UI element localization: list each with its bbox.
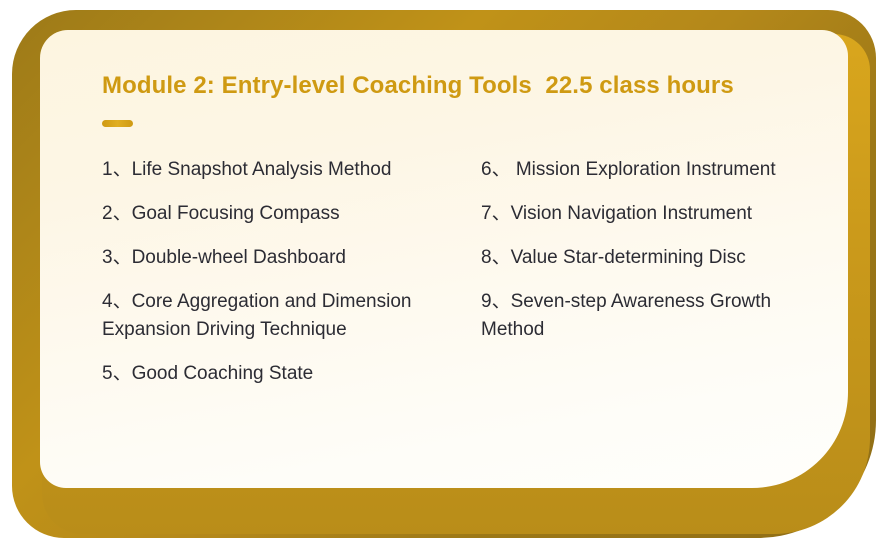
list-item: 9、Seven-step Awareness Growth Method bbox=[481, 288, 831, 344]
list-item: 6、 Mission Exploration Instrument bbox=[481, 156, 831, 184]
list-item: 8、Value Star-determining Disc bbox=[481, 244, 831, 272]
title-accent-dash-icon bbox=[102, 120, 133, 127]
content-card: Module 2: Entry-level Coaching Tools 22.… bbox=[40, 30, 848, 488]
page-stage: Module 2: Entry-level Coaching Tools 22.… bbox=[0, 0, 888, 548]
page-title: Module 2: Entry-level Coaching Tools 22.… bbox=[102, 72, 734, 100]
list-item: 2、Goal Focusing Compass bbox=[102, 200, 472, 228]
tools-column-left: 1、Life Snapshot Analysis Method 2、Goal F… bbox=[102, 156, 472, 404]
list-item: 7、Vision Navigation Instrument bbox=[481, 200, 831, 228]
tools-column-right: 6、 Mission Exploration Instrument 7、Visi… bbox=[481, 156, 831, 360]
list-item: 5、Good Coaching State bbox=[102, 360, 472, 388]
tools-list: 1、Life Snapshot Analysis Method 2、Goal F… bbox=[40, 156, 848, 456]
list-item: 4、Core Aggregation and Dimension Expansi… bbox=[102, 288, 472, 344]
list-item: 1、Life Snapshot Analysis Method bbox=[102, 156, 472, 184]
list-item: 3、Double-wheel Dashboard bbox=[102, 244, 472, 272]
